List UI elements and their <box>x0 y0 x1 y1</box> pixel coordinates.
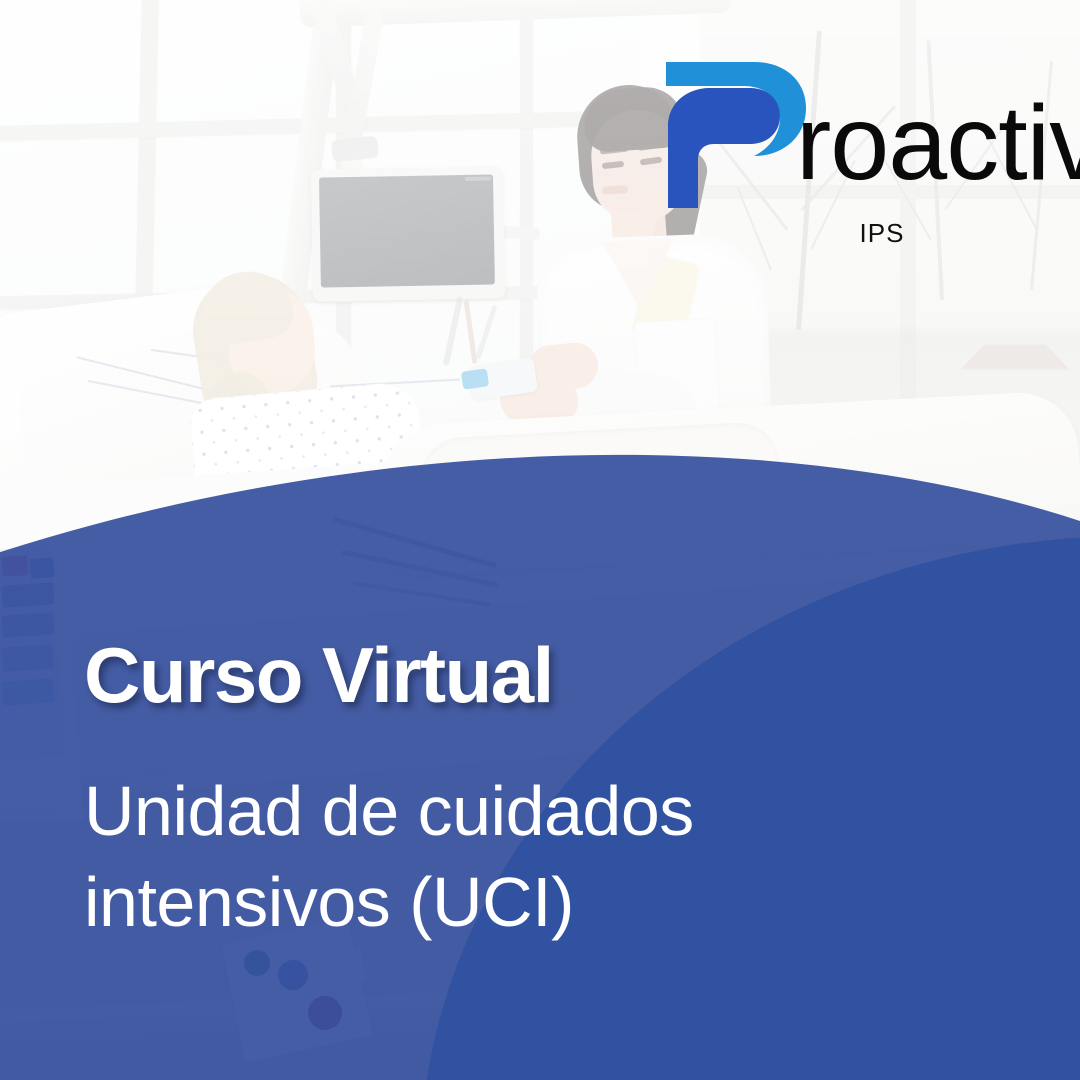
logo-wordmark: roactive <box>796 90 1080 196</box>
monitor-screen <box>319 175 495 288</box>
vital-signs-monitor <box>311 166 505 301</box>
course-title-line-1: Unidad de cuidados <box>84 766 984 857</box>
handheld-device-indicator <box>461 368 489 389</box>
proactive-ips-logo: roactive IPS <box>650 52 1050 252</box>
logo-tagline: IPS <box>822 218 942 249</box>
course-kicker: Curso Virtual <box>84 636 984 714</box>
course-title-line-2: intensivos (UCI) <box>84 857 984 948</box>
course-title: Unidad de cuidados intensivos (UCI) <box>84 766 984 948</box>
monitor-brand-mark <box>465 177 491 181</box>
poster-copy-block: Curso Virtual Unidad de cuidados intensi… <box>84 636 984 948</box>
course-promo-poster: roactive IPS Curso Virtual Unidad de cui… <box>0 0 1080 1080</box>
proactive-p-swoosh-logo <box>658 56 808 216</box>
